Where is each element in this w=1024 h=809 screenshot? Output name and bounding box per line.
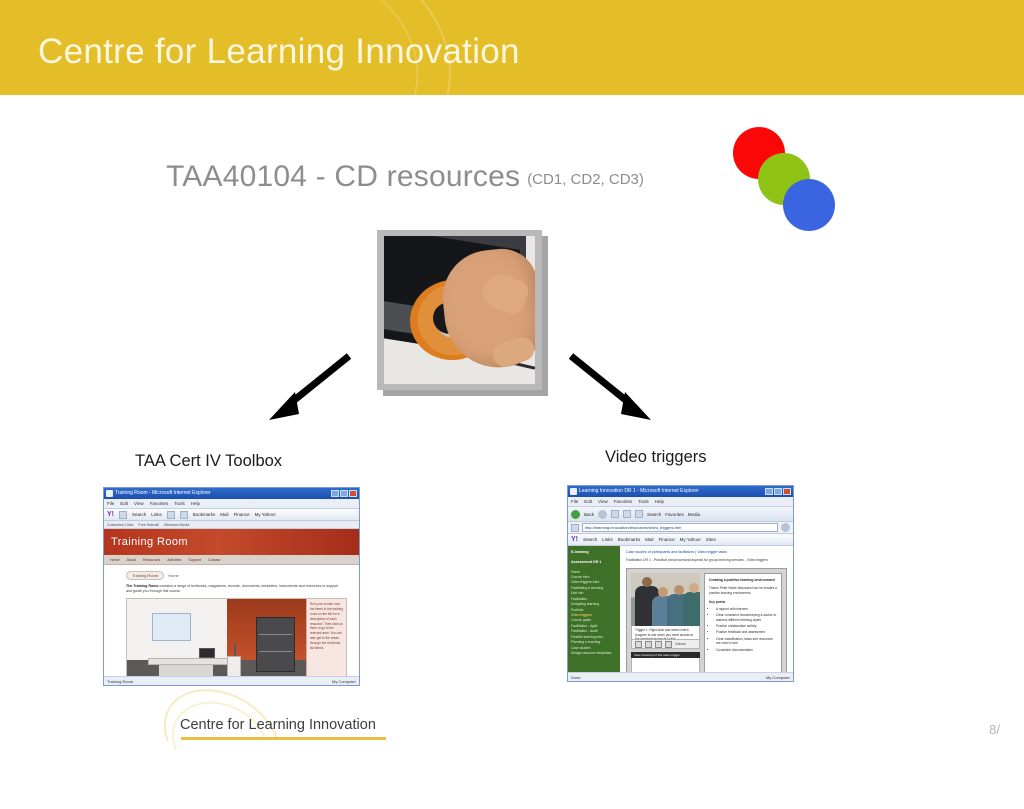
favorites-label[interactable]: Favorites [665,512,684,517]
notes-item: Clear classification, tasks and resource… [716,637,777,647]
wall-poster-shape [152,613,191,640]
training-room-illustration[interactable]: Roll your mouse over the items in the tr… [126,598,347,686]
page-title-main: TAA40104 - CD resources [166,160,520,193]
menu-item-view[interactable]: View [134,501,144,506]
yahoo-logo-icon: Y! [107,511,114,518]
bookshelf-shape [256,617,295,672]
notes-item: Positive collaborative activity [716,624,777,629]
decorative-circles [733,127,843,232]
yahoo-links-label[interactable]: Links [151,512,162,517]
forward-button-icon[interactable] [598,510,607,519]
menu-item-tools[interactable]: Tools [174,501,185,506]
page-breadcrumb[interactable]: Case studies of participants and facilit… [626,550,787,554]
video-triggers-screenshot-thumbnail[interactable]: Learning Innovation DR 1 - Microsoft Int… [567,485,794,682]
training-room-body: Training Room Home The Training Room con… [104,565,359,686]
training-room-intro-text: The Training Room contains a range of te… [126,584,349,594]
back-button-icon[interactable] [571,510,580,519]
left-browser-statusbar: Training Room My Computer [104,676,359,685]
right-browser-menubar[interactable]: File Edit View Favorites Tools Help [568,497,793,507]
person-head-2 [658,587,668,597]
training-room-navbar[interactable]: Home About Resources Activities Support … [104,555,359,565]
pause-button-icon[interactable] [655,641,662,648]
yahoo-search-label[interactable]: Search [132,512,146,517]
link-free-hotmail[interactable]: Free Hotmail [138,523,159,527]
menu-item-favorites[interactable]: Favorites [614,499,633,504]
nav-item-resources[interactable]: Resources [143,558,160,562]
yahoo-mail-label[interactable]: Mail [220,512,228,517]
menu-item-tools[interactable]: Tools [638,499,649,504]
home-icon[interactable] [635,510,643,518]
yahoo-finance-label[interactable]: Finance [234,512,250,517]
left-browser-titlebar: Training Room - Microsoft Internet Explo… [104,488,359,499]
menu-item-help[interactable]: Help [191,501,200,506]
training-room-lead: The Training Room [126,584,159,588]
right-browser-toolbar[interactable]: Back Search Favorites Media [568,507,793,522]
yahoo-search-label[interactable]: Search [583,537,597,542]
menu-item-file[interactable]: File [571,499,578,504]
minimize-button[interactable] [765,488,773,495]
go-button-icon[interactable] [781,523,790,532]
person-shape-4 [683,592,700,626]
right-yahoo-toolbar[interactable]: Y! Search Links Bookmarks Mail Finance M… [568,534,793,546]
nav-item-contact[interactable]: Contact [208,558,220,562]
room-rendering [127,599,306,686]
right-browser-titlebar: Learning Innovation DR 1 - Microsoft Int… [568,486,793,497]
nav-item-about[interactable]: About [127,558,136,562]
arrow-down-left-icon [265,352,355,422]
page-subtitle: Facilitation DR 1 - Practical and proced… [626,558,787,563]
volume-label: Volume [675,642,686,646]
person-head-1 [642,577,652,587]
video-player[interactable]: Trigger 1: Right-click and select which … [631,573,700,681]
training-room-hero: Training Room [104,529,359,555]
organisation-title: Centre for Learning Innovation [38,32,520,72]
menu-item-help[interactable]: Help [655,499,664,504]
yahoo-finance-label[interactable]: Finance [659,537,675,542]
notes-item: Consistent documentation [716,648,777,653]
footer-logo-rule [181,737,386,740]
toolbox-screenshot-thumbnail[interactable]: Training Room - Microsoft Internet Explo… [103,487,360,686]
left-status-text: Training Room [107,679,133,684]
notes-title: Creating a positive learning environment [709,578,777,583]
close-button[interactable] [783,488,791,495]
course-sidebar[interactable]: E-learning Assessment DR 1 Home Course i… [568,546,620,682]
blue-circle-icon [783,179,835,231]
yahoo-tool-icon-1[interactable] [167,511,175,519]
ie-window-icon [570,488,577,495]
maximize-button[interactable] [340,490,348,497]
cd-insert-photo-inner [384,236,535,384]
notes-item: A rapport with learners [716,607,777,612]
room-help-panel: Roll your mouse over the items in the tr… [306,599,346,686]
maximize-button[interactable] [774,488,782,495]
notes-panel: Creating a positive learning environment… [704,573,782,681]
left-links-bar[interactable]: Customise Links Free Hotmail Windows Med… [104,521,359,529]
yahoo-sites-label[interactable]: Sites [706,537,716,542]
nav-item-home[interactable]: Home [110,558,120,562]
yahoo-mail-label[interactable]: Mail [645,537,653,542]
notes-item: Clear consistent housekeeping & advice t… [716,613,777,623]
yahoo-bookmarks-label[interactable]: Bookmarks [618,537,641,542]
breadcrumb-pill[interactable]: Training Room [126,571,164,580]
video-frame[interactable] [631,573,700,626]
yahoo-links-label[interactable]: Links [602,537,613,542]
footer-logo: Centre for Learning Innovation [160,700,420,760]
address-page-icon [571,524,579,532]
back-label[interactable]: Back [584,512,594,517]
page-number: 8/ [989,722,1000,737]
sidebar-heading: E-learning [571,550,617,556]
yahoo-pencil-icon[interactable] [119,511,127,519]
refresh-icon[interactable] [623,510,631,518]
yahoo-tool-icon-2[interactable] [180,511,188,519]
stop-icon[interactable] [611,510,619,518]
arrow-down-right-icon [565,352,655,422]
breadcrumb[interactable]: Training Room Home [126,571,349,580]
person-head-4 [689,583,699,593]
right-status-text: Done [571,675,581,680]
sidebar-subheading: Assessment DR 1 [571,560,617,566]
thumb-shape [478,271,530,317]
right-status-zone: My Computer [766,675,790,680]
video-triggers-page: E-learning Assessment DR 1 Home Course i… [568,546,793,682]
video-caption: Trigger 1: Right-click and select which … [631,626,700,640]
sidebar-item-templates[interactable]: Design resource templates [571,651,617,656]
left-browser-title: Training Room - Microsoft Internet Explo… [115,490,331,497]
nav-item-activities[interactable]: Activities [167,558,181,562]
play-button-icon[interactable] [635,641,642,648]
right-browser-statusbar: Done My Computer [568,672,793,681]
left-status-zone: My Computer [332,679,356,684]
nav-item-support[interactable]: Support [188,558,201,562]
media-label[interactable]: Media [688,512,700,517]
left-yahoo-toolbar[interactable]: Y! Search Links Bookmarks Mail Finance M… [104,509,359,521]
right-address-bar[interactable]: http://learning.innovation/resources/vid… [568,522,793,534]
menu-item-file[interactable]: File [107,501,114,506]
minimize-button[interactable] [331,490,339,497]
yahoo-logo-icon: Y! [571,536,578,543]
training-room-page: Training Room Home About Resources Activ… [104,529,359,686]
video-panel: Trigger 1: Right-click and select which … [626,568,787,682]
cd-insert-photo [377,230,542,390]
address-input[interactable]: http://learning.innovation/resources/vid… [582,523,778,532]
left-browser-menubar[interactable]: File Edit View Favorites Tools Help [104,499,359,509]
volume-button-icon[interactable] [665,641,672,648]
notes-text: Trainer Peter Noble discusses how he cre… [709,586,777,596]
branch-caption-video-triggers: Video triggers [605,448,707,467]
monitor-shape [199,648,215,658]
yahoo-myyahoo-label[interactable]: My Yahoo! [680,537,701,542]
link-customise-links[interactable]: Customise Links [107,523,133,527]
training-room-hero-title: Training Room [111,536,188,548]
right-window-controls[interactable] [765,488,791,495]
video-controls[interactable]: Volume [631,640,700,649]
footer-logo-text: Centre for Learning Innovation [180,717,376,733]
breadcrumb-current: Home [168,573,179,578]
person-head-3 [674,585,684,595]
notes-list: A rapport with learners Clear consistent… [709,607,777,653]
header-banner: Centre for Learning Innovation [0,0,1024,95]
link-windows-media[interactable]: Windows Media [164,523,189,527]
page-title: TAA40104 - CD resources(CD1, CD2, CD3) [166,160,644,194]
page-title-sub: (CD1, CD2, CD3) [527,171,644,188]
stop-button-icon[interactable] [645,641,652,648]
video-triggers-main: Case studies of participants and facilit… [620,546,793,682]
ie-window-icon [106,490,113,497]
menu-item-edit[interactable]: Edit [584,499,592,504]
menu-item-edit[interactable]: Edit [120,501,128,506]
yahoo-bookmarks-label[interactable]: Bookmarks [193,512,216,517]
branch-caption-toolbox: TAA Cert IV Toolbox [135,452,282,471]
notes-subtitle: Key points [709,600,777,605]
menu-item-favorites[interactable]: Favorites [150,501,169,506]
right-browser-title: Learning Innovation DR 1 - Microsoft Int… [579,488,765,495]
notes-item: Positive feedback and assessment [716,630,777,635]
yahoo-myyahoo-label[interactable]: My Yahoo! [255,512,276,517]
search-label[interactable]: Search [647,512,661,517]
menu-item-view[interactable]: View [598,499,608,504]
close-button[interactable] [349,490,357,497]
left-window-controls[interactable] [331,490,357,497]
